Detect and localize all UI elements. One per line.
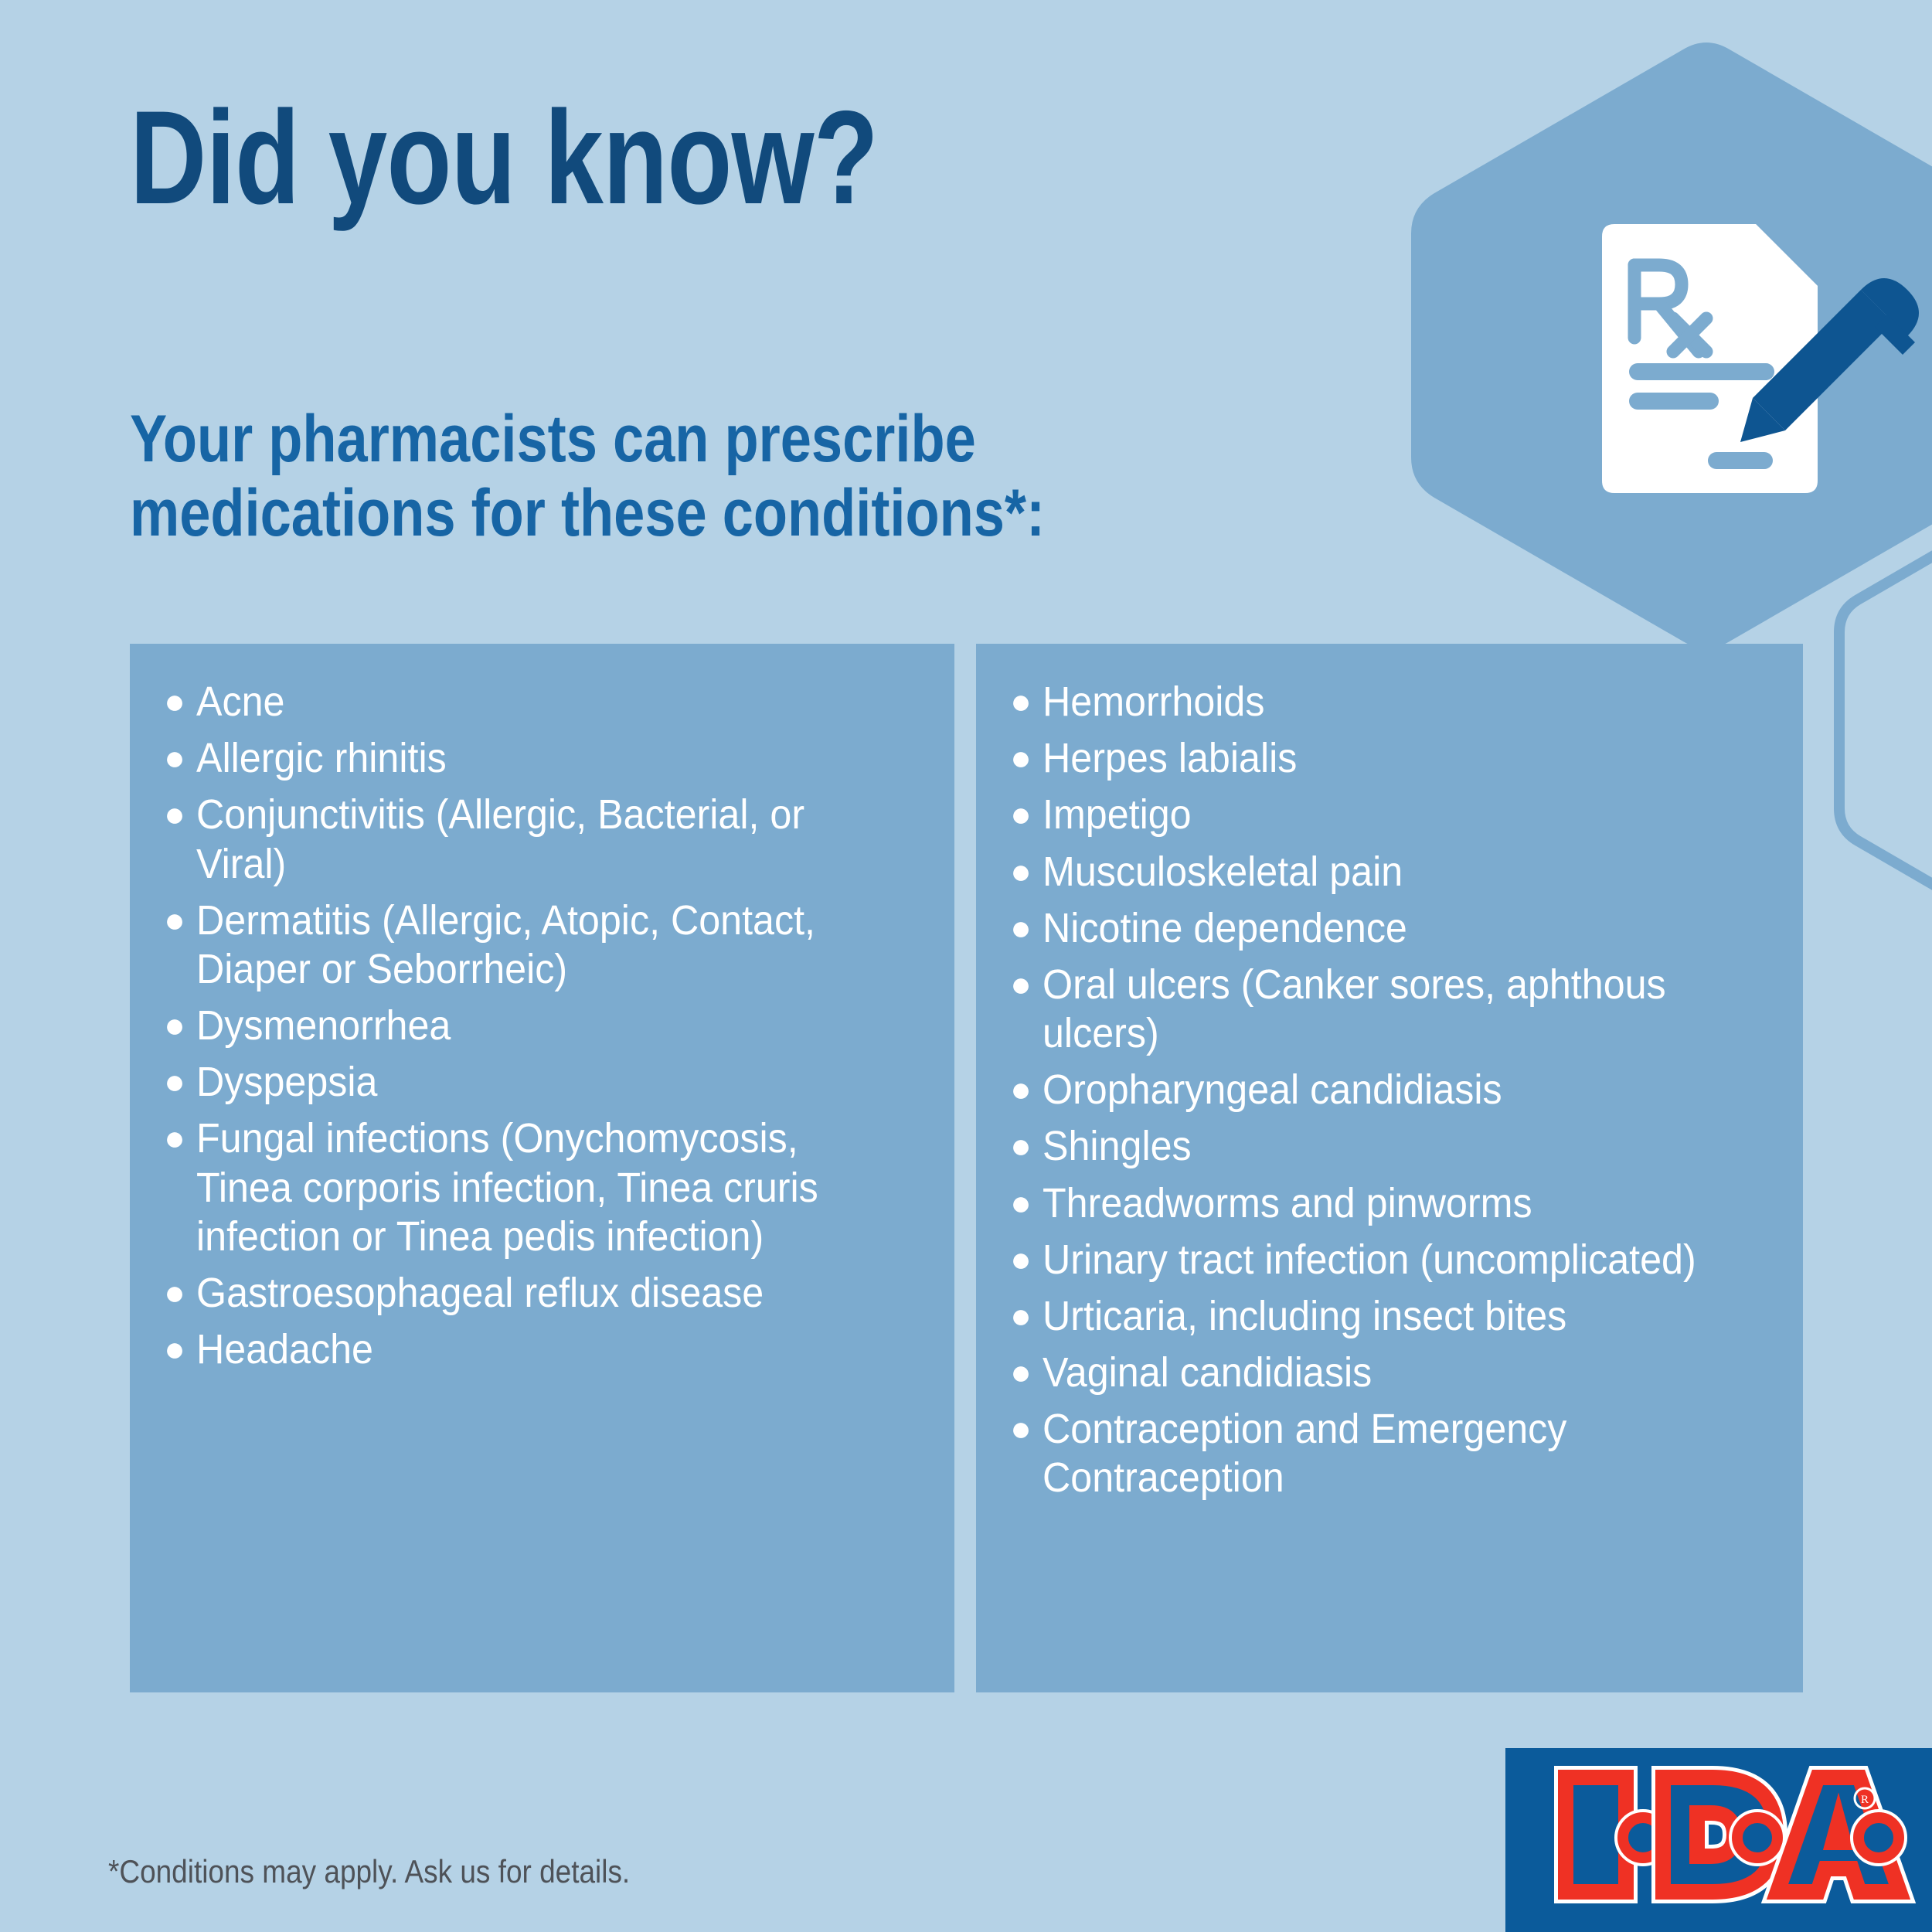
condition-label: Acne xyxy=(196,678,879,726)
bullet-icon: ● xyxy=(999,734,1043,782)
condition-list-item: ●Oral ulcers (Canker sores, aphthous ulc… xyxy=(999,961,1780,1058)
bullet-icon: ● xyxy=(999,961,1043,1009)
condition-label: Herpes labialis xyxy=(1043,734,1728,783)
bullet-icon: ● xyxy=(999,1292,1043,1340)
condition-list-item: ●Dyspepsia xyxy=(153,1058,931,1107)
bullet-icon: ● xyxy=(153,1325,196,1373)
condition-label: Gastroesophageal reflux disease xyxy=(196,1269,879,1318)
ida-logo-letters xyxy=(1566,1777,1900,1892)
condition-list-item: ●Gastroesophageal reflux disease xyxy=(153,1269,931,1318)
condition-label: Oral ulcers (Canker sores, aphthous ulce… xyxy=(1043,961,1728,1058)
bullet-icon: ● xyxy=(153,1269,196,1317)
condition-list-item: ●Musculoskeletal pain xyxy=(999,848,1780,896)
condition-label: Headache xyxy=(196,1325,879,1374)
bullet-icon: ● xyxy=(999,904,1043,952)
bullet-icon: ● xyxy=(999,678,1043,726)
bullet-icon: ● xyxy=(153,791,196,838)
condition-label: Dyspepsia xyxy=(196,1058,879,1107)
condition-list-item: ●Nicotine dependence xyxy=(999,904,1780,953)
bullet-icon: ● xyxy=(153,896,196,944)
document-signature-line xyxy=(1708,452,1773,469)
condition-label: Dermatitis (Allergic, Atopic, Contact, D… xyxy=(196,896,879,994)
condition-label: Fungal infections (Onychomycosis, Tinea … xyxy=(196,1114,879,1261)
condition-label: Shingles xyxy=(1043,1122,1728,1171)
bullet-icon: ● xyxy=(153,1002,196,1049)
condition-label: Hemorrhoids xyxy=(1043,678,1728,726)
ida-logo-block: R xyxy=(1505,1748,1932,1932)
ida-logo: R xyxy=(1505,1748,1932,1932)
bullet-icon: ● xyxy=(153,678,196,726)
bullet-icon: ● xyxy=(999,1179,1043,1227)
document-line-1 xyxy=(1629,363,1774,380)
condition-list-item: ●Shingles xyxy=(999,1122,1780,1171)
condition-list-item: ●Contraception and Emergency Contracepti… xyxy=(999,1405,1780,1502)
page-subtitle: Your pharmacists can prescribe medicatio… xyxy=(130,402,1266,551)
condition-list-item: ●Threadworms and pinworms xyxy=(999,1179,1780,1228)
condition-label: Allergic rhinitis xyxy=(196,734,879,783)
bullet-icon: ● xyxy=(153,734,196,782)
condition-list-item: ●Impetigo xyxy=(999,791,1780,839)
page-subtitle-line-1: Your pharmacists can prescribe xyxy=(130,402,1266,476)
condition-list-item: ●Fungal infections (Onychomycosis, Tinea… xyxy=(153,1114,931,1261)
condition-label: Urinary tract infection (uncomplicated) xyxy=(1043,1236,1728,1284)
condition-label: Conjunctivitis (Allergic, Bacterial, or … xyxy=(196,791,879,888)
condition-label: Impetigo xyxy=(1043,791,1728,839)
condition-label: Urticaria, including insect bites xyxy=(1043,1292,1728,1341)
condition-list-item: ●Dermatitis (Allergic, Atopic, Contact, … xyxy=(153,896,931,994)
condition-label: Musculoskeletal pain xyxy=(1043,848,1728,896)
prescription-document-icon xyxy=(1602,224,1818,493)
condition-label: Oropharyngeal candidiasis xyxy=(1043,1066,1728,1114)
page-subtitle-line-2: medications for these conditions*: xyxy=(130,476,1266,550)
condition-list-item: ●Herpes labialis xyxy=(999,734,1780,783)
conditions-list-right: ●Hemorrhoids●Herpes labialis●Impetigo●Mu… xyxy=(999,678,1780,1503)
conditions-panel-left: ●Acne●Allergic rhinitis●Conjunctivitis (… xyxy=(130,644,954,1692)
bullet-icon: ● xyxy=(999,848,1043,896)
bullet-icon: ● xyxy=(153,1058,196,1106)
condition-label: Vaginal candidiasis xyxy=(1043,1349,1728,1397)
document-line-2 xyxy=(1629,393,1719,410)
bullet-icon: ● xyxy=(999,791,1043,838)
condition-list-item: ●Headache xyxy=(153,1325,931,1374)
condition-list-item: ●Urticaria, including insect bites xyxy=(999,1292,1780,1341)
condition-label: Nicotine dependence xyxy=(1043,904,1728,953)
bullet-icon: ● xyxy=(999,1236,1043,1284)
footnote-conditions-apply: *Conditions may apply. Ask us for detail… xyxy=(108,1853,630,1890)
condition-label: Contraception and Emergency Contraceptio… xyxy=(1043,1405,1728,1502)
condition-list-item: ●Conjunctivitis (Allergic, Bacterial, or… xyxy=(153,791,931,888)
condition-list-item: ●Dysmenorrhea xyxy=(153,1002,931,1050)
condition-list-item: ●Vaginal candidiasis xyxy=(999,1349,1780,1397)
conditions-list-left: ●Acne●Allergic rhinitis●Conjunctivitis (… xyxy=(153,678,931,1374)
condition-list-item: ●Oropharyngeal candidiasis xyxy=(999,1066,1780,1114)
bullet-icon: ● xyxy=(999,1405,1043,1453)
bullet-icon: ● xyxy=(153,1114,196,1162)
condition-label: Threadworms and pinworms xyxy=(1043,1179,1728,1228)
condition-list-item: ●Acne xyxy=(153,678,931,726)
bullet-icon: ● xyxy=(999,1122,1043,1170)
bullet-icon: ● xyxy=(999,1066,1043,1114)
bullet-icon: ● xyxy=(999,1349,1043,1396)
condition-list-item: ●Hemorrhoids xyxy=(999,678,1780,726)
svg-text:R: R xyxy=(1861,1794,1869,1806)
page-title: Did you know? xyxy=(130,91,1119,224)
condition-list-item: ●Urinary tract infection (uncomplicated) xyxy=(999,1236,1780,1284)
conditions-panel-right: ●Hemorrhoids●Herpes labialis●Impetigo●Mu… xyxy=(976,644,1803,1692)
condition-list-item: ●Allergic rhinitis xyxy=(153,734,931,783)
condition-label: Dysmenorrhea xyxy=(196,1002,879,1050)
